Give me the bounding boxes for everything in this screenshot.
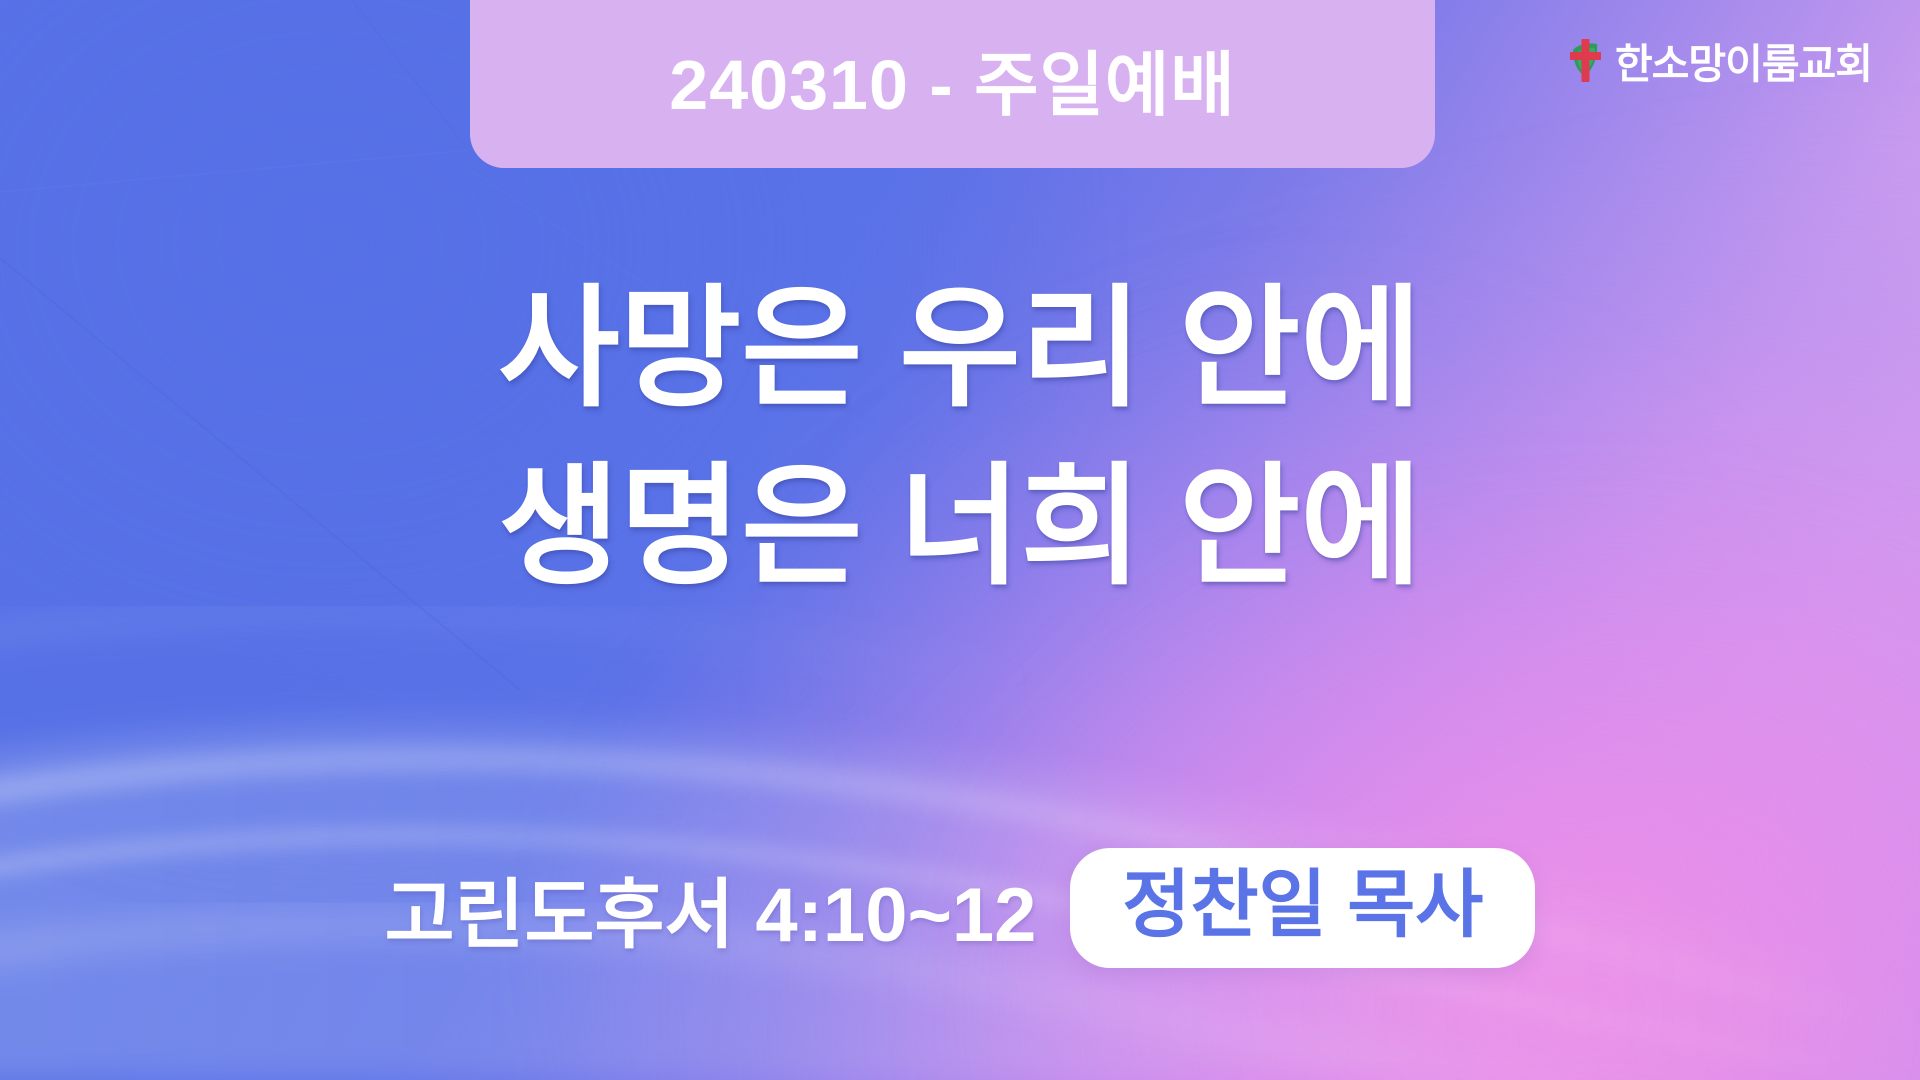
scripture-reference: 고린도후서 4:10~12	[385, 853, 1037, 963]
speaker-badge: 정찬일 목사	[1070, 848, 1535, 968]
speaker-name-label: 정찬일 목사	[1122, 866, 1483, 944]
sermon-footer: 고린도후서 4:10~12 정찬일 목사	[0, 848, 1920, 968]
church-name-label: 한소망이룸교회	[1615, 30, 1872, 90]
church-logo: 한소망이룸교회	[1563, 30, 1872, 90]
sermon-title-line-2: 생명은 너희 안에	[498, 440, 1421, 614]
sermon-title: 사망은 우리 안에 생명은 너희 안에	[0, 262, 1920, 614]
sermon-slide: 240310 - 주일예배 한소망이룸교회 사망은 우리 안에 생명은 너희 안…	[0, 0, 1920, 1080]
service-date-label: 240310 - 주일예배	[669, 29, 1235, 130]
sermon-title-line-1: 사망은 우리 안에	[498, 262, 1421, 436]
cross-icon	[1563, 36, 1607, 84]
service-date-banner: 240310 - 주일예배	[470, 0, 1435, 168]
